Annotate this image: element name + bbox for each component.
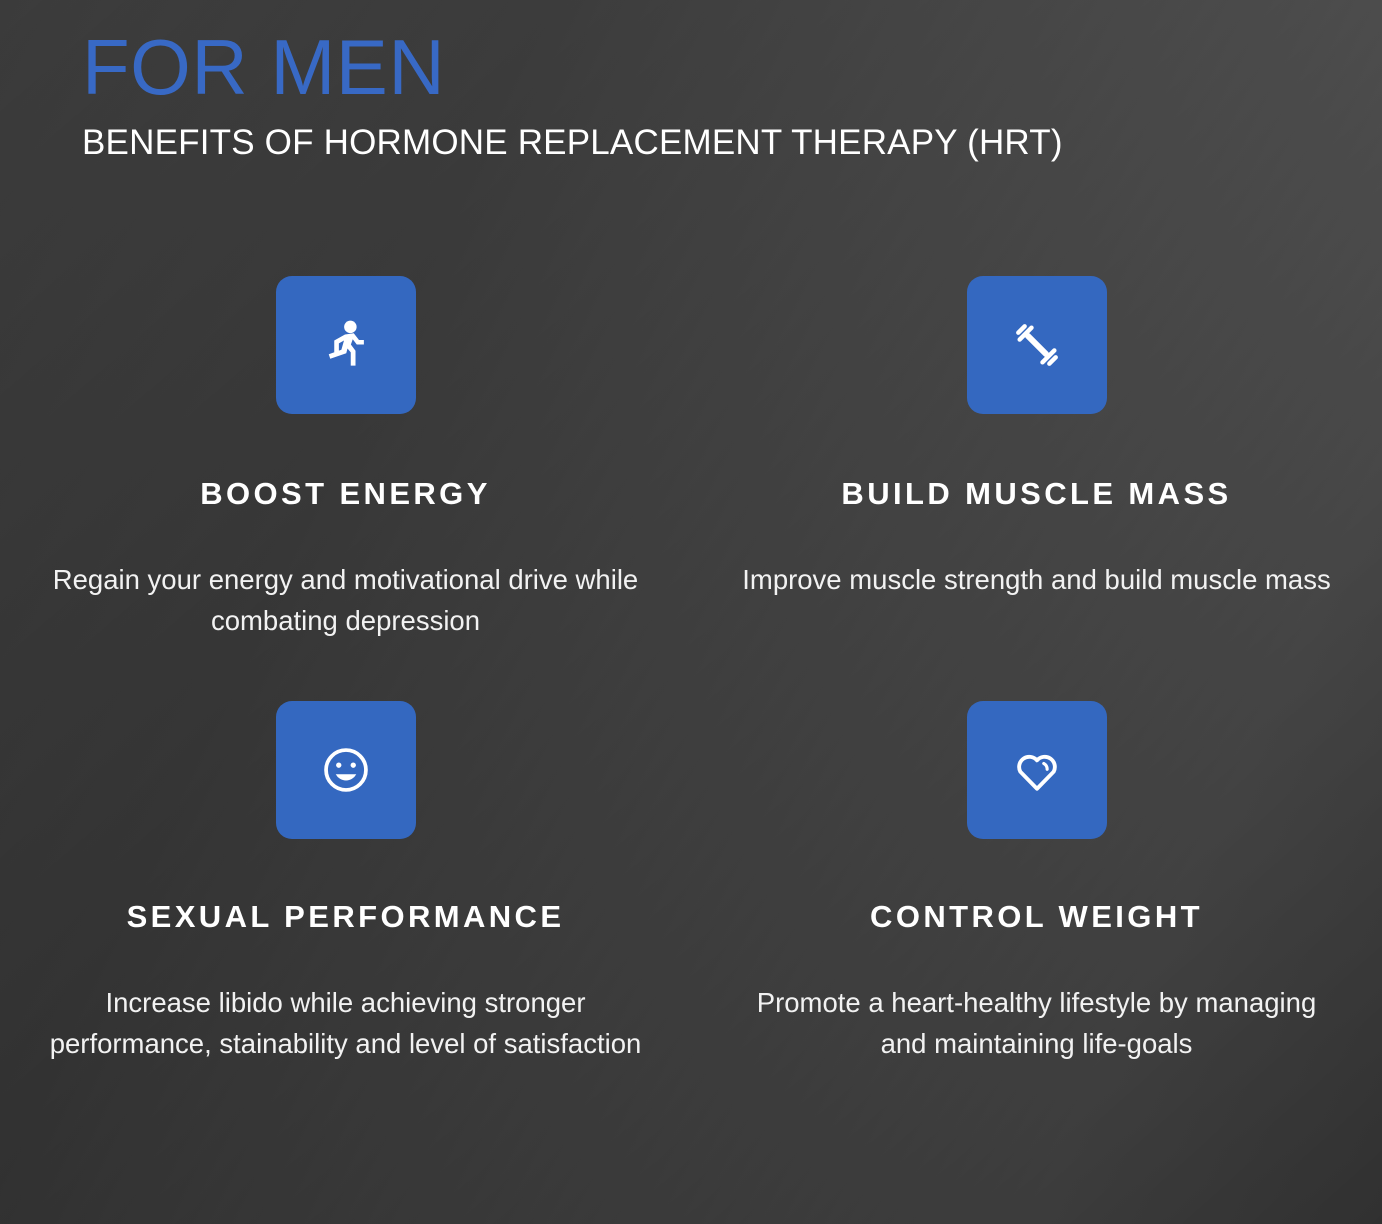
benefit-title: CONTROL WEIGHT <box>870 899 1203 935</box>
page-title: FOR MEN <box>82 30 1182 105</box>
benefit-card-boost-energy: BOOST ENERGY Regain your energy and moti… <box>0 276 691 641</box>
dumbbell-icon <box>1006 314 1068 376</box>
page-subtitle: BENEFITS OF HORMONE REPLACEMENT THERAPY … <box>82 123 1182 163</box>
icon-tile-control-weight <box>967 701 1107 839</box>
icon-tile-boost-energy <box>276 276 416 414</box>
icon-tile-sexual-performance <box>276 701 416 839</box>
benefit-title: BOOST ENERGY <box>200 476 491 512</box>
benefit-card-control-weight: CONTROL WEIGHT Promote a heart-healthy l… <box>691 701 1382 1064</box>
benefit-description: Increase libido while achieving stronger… <box>46 983 646 1064</box>
benefit-card-sexual-performance: SEXUAL PERFORMANCE Increase libido while… <box>0 701 691 1064</box>
running-person-icon <box>316 315 376 375</box>
poster-canvas: FOR MEN BENEFITS OF HORMONE REPLACEMENT … <box>0 0 1382 1224</box>
benefit-title: SEXUAL PERFORMANCE <box>127 899 565 935</box>
poster-header: FOR MEN BENEFITS OF HORMONE REPLACEMENT … <box>82 30 1182 163</box>
benefit-title: BUILD MUSCLE MASS <box>841 476 1231 512</box>
benefit-card-build-muscle-mass: BUILD MUSCLE MASS Improve muscle strengt… <box>691 276 1382 641</box>
smiley-face-icon <box>317 741 375 799</box>
benefit-description: Promote a heart-healthy lifestyle by man… <box>737 983 1337 1064</box>
benefit-description: Improve muscle strength and build muscle… <box>742 560 1330 601</box>
benefits-grid: BOOST ENERGY Regain your energy and moti… <box>0 276 1382 1065</box>
benefit-description: Regain your energy and motivational driv… <box>46 560 646 641</box>
icon-tile-build-muscle-mass <box>967 276 1107 414</box>
heart-icon <box>1008 741 1066 799</box>
